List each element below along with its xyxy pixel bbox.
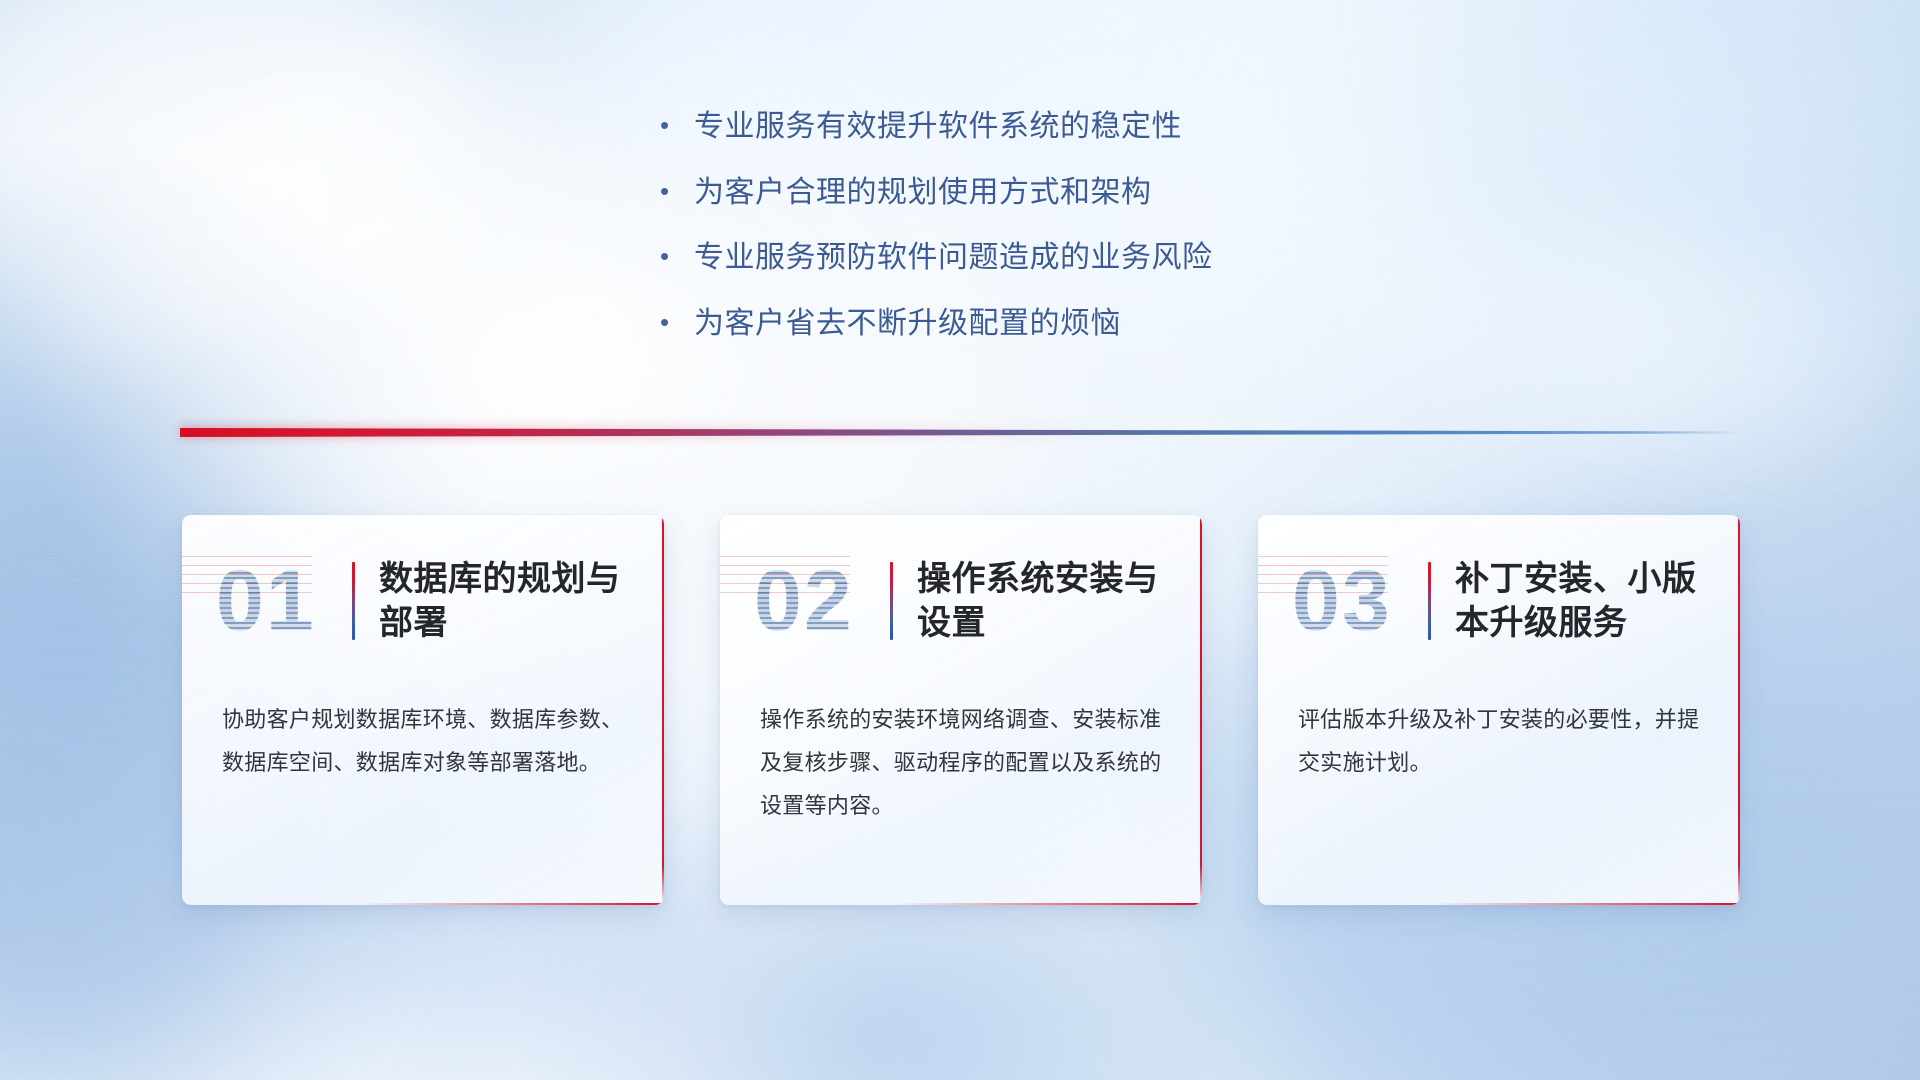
card-bottom-accent: [1432, 903, 1740, 906]
card-accent-bar: [890, 562, 893, 640]
service-card-03[interactable]: 03 补丁安装、小版本升级服务 评估版本升级及补丁安装的必要性，并提交实施计划。: [1258, 515, 1740, 905]
card-header: 02 操作系统安装与设置: [720, 515, 1202, 651]
card-accent-bar: [1428, 562, 1431, 640]
benefits-bullet-list: • 专业服务有效提升软件系统的稳定性 • 为客户合理的规划使用方式和架构 • 专…: [660, 108, 1420, 370]
bullet-text: 为客户合理的规划使用方式和架构: [694, 174, 1420, 212]
bullet-text: 为客户省去不断升级配置的烦恼: [694, 305, 1420, 343]
bullet-dot-icon: •: [660, 305, 694, 340]
bullet-dot-icon: •: [660, 174, 694, 209]
service-card-01[interactable]: 01 数据库的规划与部署 协助客户规划数据库环境、数据库参数、数据库空间、数据库…: [182, 515, 664, 905]
bullet-dot-icon: •: [660, 239, 694, 274]
card-title: 数据库的规划与部署: [379, 557, 634, 645]
card-body-text: 协助客户规划数据库环境、数据库参数、数据库空间、数据库对象等部署落地。: [182, 651, 664, 785]
card-number: 01: [216, 558, 346, 644]
card-accent-bar: [352, 562, 355, 640]
service-card-02[interactable]: 02 操作系统安装与设置 操作系统的安装环境网络调查、安装标准及复核步骤、驱动程…: [720, 515, 1202, 905]
card-header: 01 数据库的规划与部署: [182, 515, 664, 651]
list-item: • 专业服务有效提升软件系统的稳定性: [660, 108, 1420, 146]
list-item: • 专业服务预防软件问题造成的业务风险: [660, 239, 1420, 277]
bullet-text: 专业服务预防软件问题造成的业务风险: [694, 239, 1420, 277]
card-bottom-accent: [356, 903, 664, 906]
list-item: • 为客户合理的规划使用方式和架构: [660, 174, 1420, 212]
service-card-list: 01 数据库的规划与部署 协助客户规划数据库环境、数据库参数、数据库空间、数据库…: [182, 515, 1742, 905]
card-title: 补丁安装、小版本升级服务: [1455, 557, 1710, 645]
card-bottom-accent: [894, 903, 1202, 906]
card-number: 03: [1292, 558, 1422, 644]
card-body-text: 评估版本升级及补丁安装的必要性，并提交实施计划。: [1258, 651, 1740, 785]
bullet-dot-icon: •: [660, 108, 694, 143]
list-item: • 为客户省去不断升级配置的烦恼: [660, 305, 1420, 343]
card-header: 03 补丁安装、小版本升级服务: [1258, 515, 1740, 651]
card-body-text: 操作系统的安装环境网络调查、安装标准及复核步骤、驱动程序的配置以及系统的设置等内…: [720, 651, 1202, 828]
section-divider: [180, 424, 1740, 442]
card-title: 操作系统安装与设置: [917, 557, 1172, 645]
card-number: 02: [754, 558, 884, 644]
slide-content: • 专业服务有效提升软件系统的稳定性 • 为客户合理的规划使用方式和架构 • 专…: [0, 0, 1920, 1080]
bullet-text: 专业服务有效提升软件系统的稳定性: [694, 108, 1420, 146]
